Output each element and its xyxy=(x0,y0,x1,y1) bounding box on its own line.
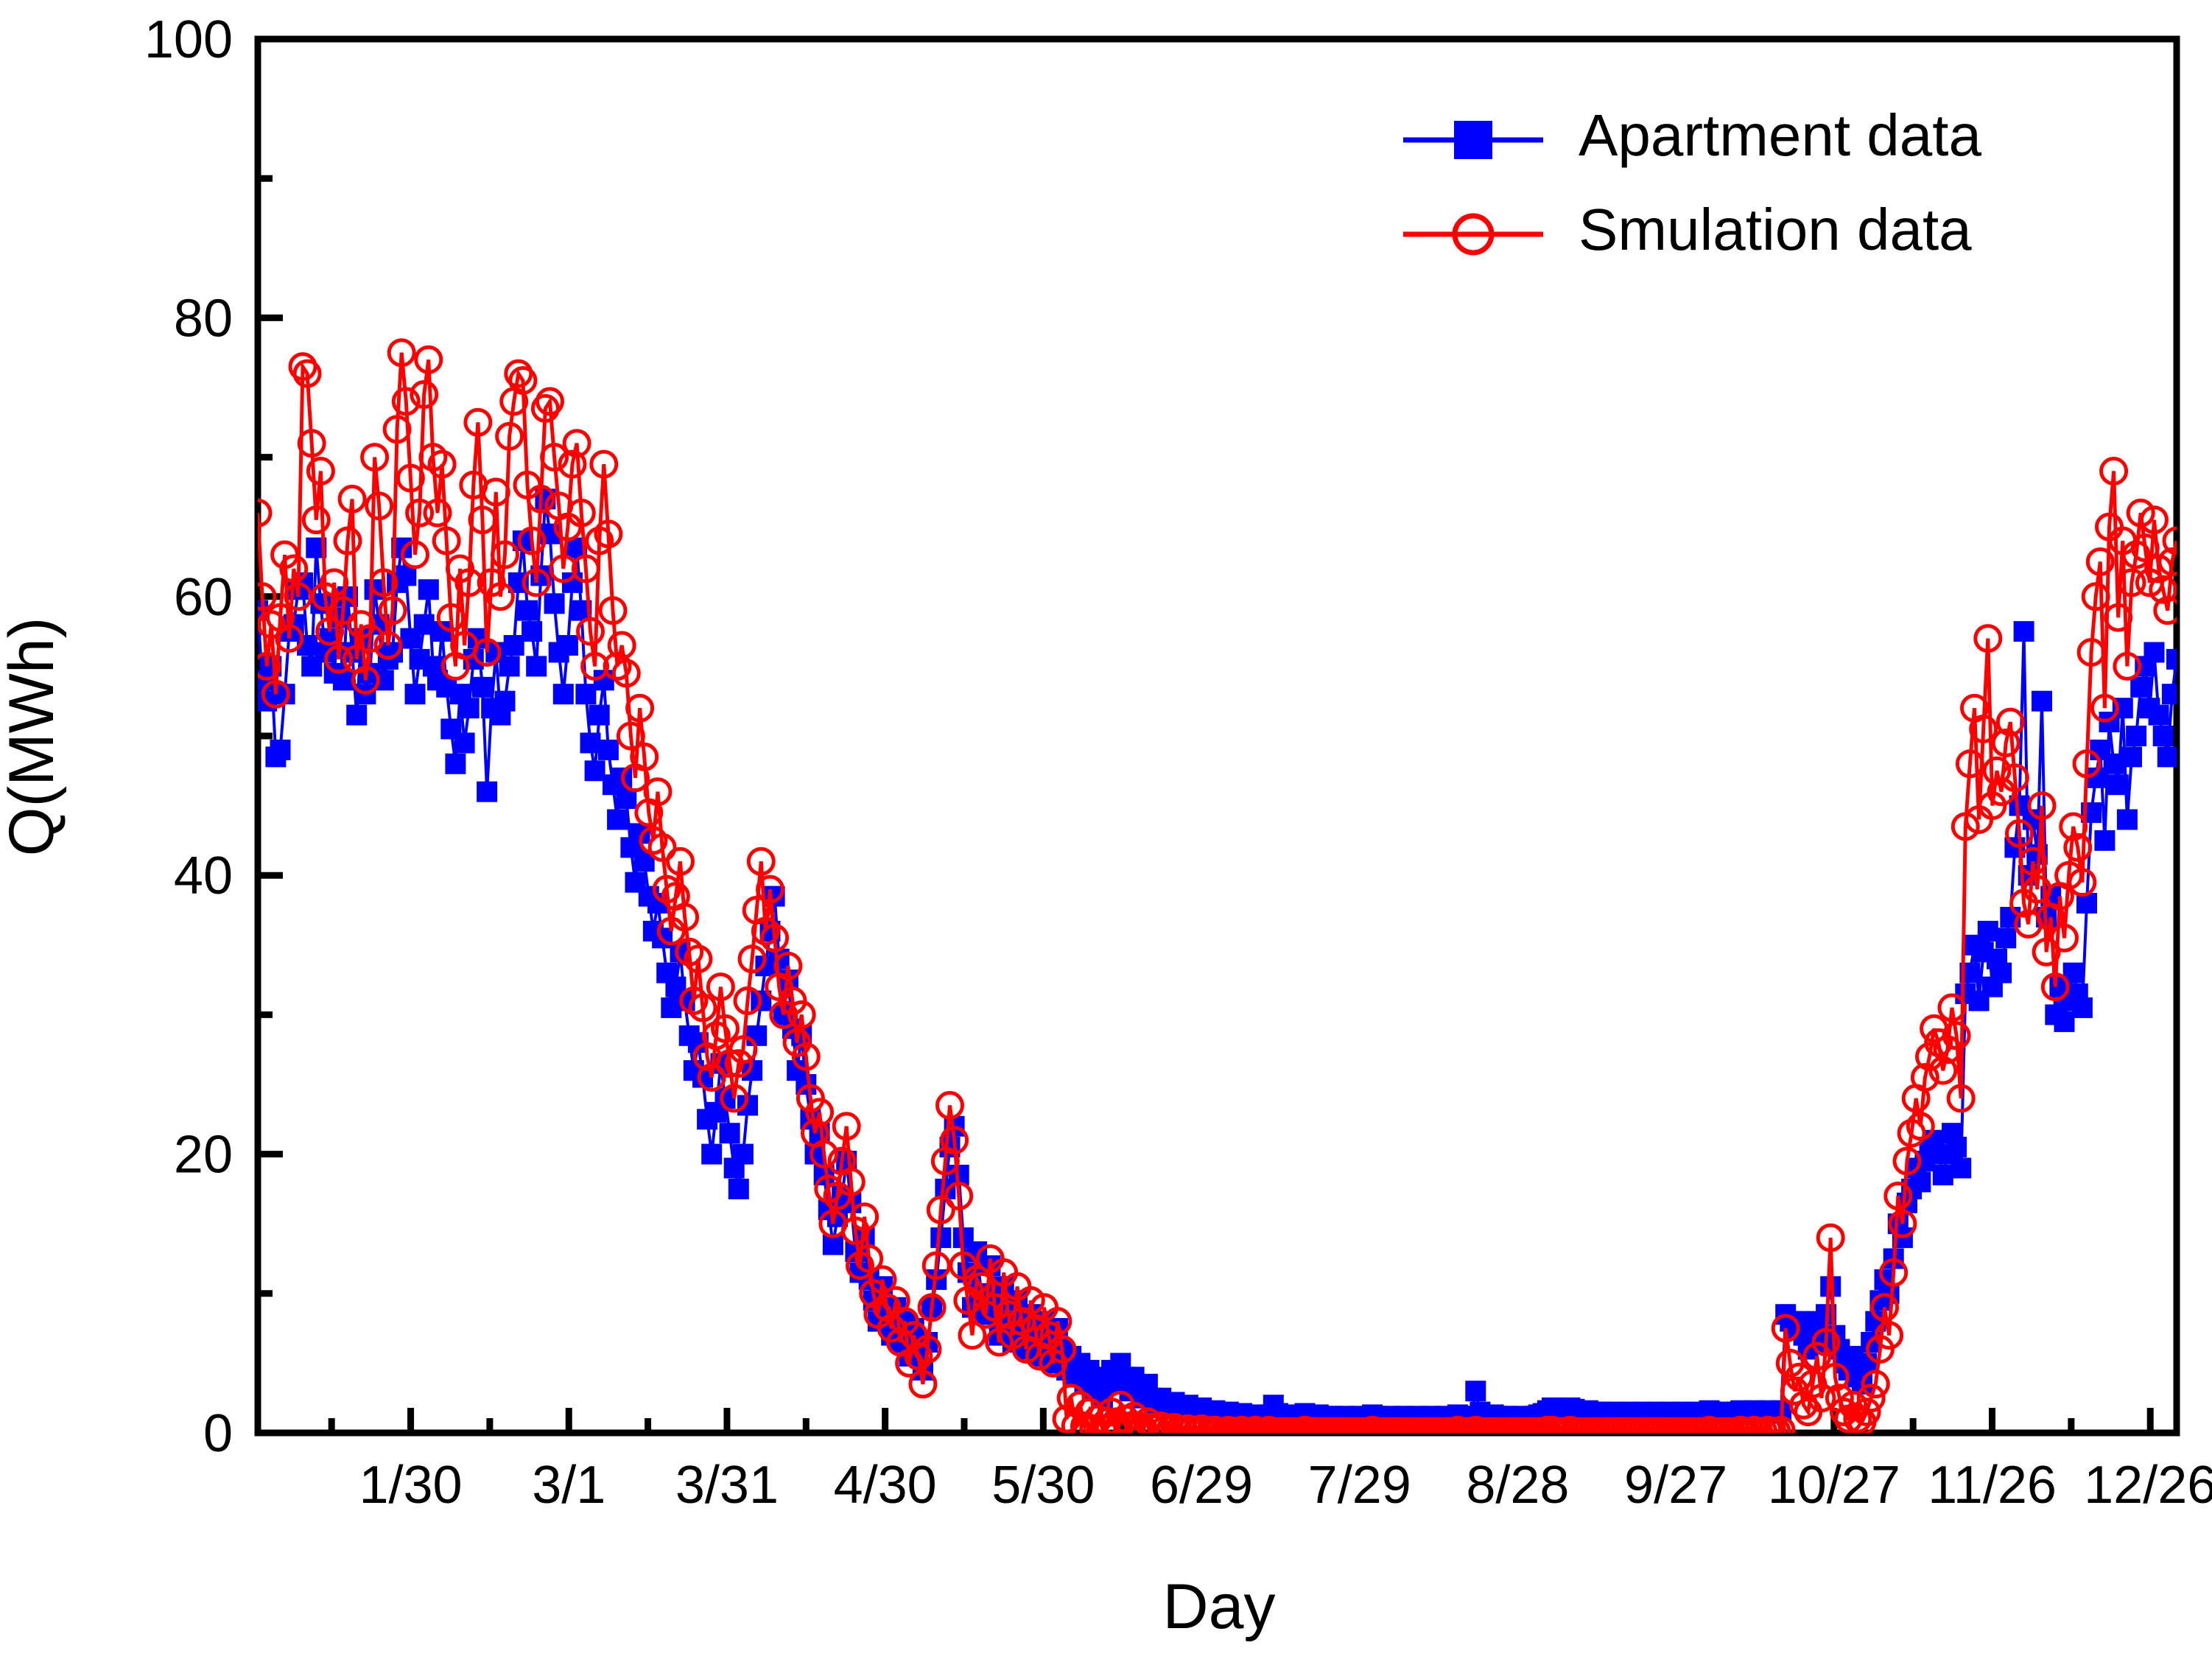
y-tick-label: 20 xyxy=(174,1126,233,1185)
x-tick-label: 4/30 xyxy=(834,1456,937,1515)
data-point-marker xyxy=(1910,1171,1931,1192)
data-point-marker xyxy=(2126,726,2146,746)
data-point-marker xyxy=(2014,621,2034,642)
data-point-marker xyxy=(580,733,601,754)
data-point-marker xyxy=(585,760,605,781)
data-point-marker xyxy=(607,810,628,830)
x-tick-label: 12/26 xyxy=(2084,1456,2212,1515)
y-tick-label: 100 xyxy=(144,10,233,69)
data-point-marker xyxy=(2117,810,2138,830)
data-point-marker xyxy=(414,614,435,635)
data-point-marker xyxy=(589,705,610,726)
y-axis-title: Q(MWh) xyxy=(0,617,67,857)
x-tick-label: 5/30 xyxy=(991,1456,1095,1515)
x-tick-label: 7/29 xyxy=(1308,1456,1411,1515)
data-point-marker xyxy=(2121,746,2142,767)
data-point-marker xyxy=(2094,830,2115,851)
x-tick-label: 11/26 xyxy=(1928,1456,2057,1515)
data-point-marker xyxy=(2054,1011,2075,1032)
data-point-marker xyxy=(1951,1158,1971,1179)
data-point-marker xyxy=(522,621,542,642)
x-tick-label: 6/29 xyxy=(1150,1456,1253,1515)
data-point-marker xyxy=(2072,997,2093,1018)
x-tick-label: 8/28 xyxy=(1466,1456,1569,1515)
data-point-marker xyxy=(495,691,516,712)
data-point-marker xyxy=(2153,726,2174,746)
data-point-marker xyxy=(2157,746,2178,767)
x-tick-label: 9/27 xyxy=(1624,1456,1727,1515)
data-point-marker xyxy=(526,656,547,676)
data-point-marker xyxy=(720,1123,740,1143)
data-point-marker xyxy=(2032,691,2052,712)
data-point-marker xyxy=(504,635,524,656)
legend-marker-square xyxy=(1454,121,1492,159)
y-tick-label: 0 xyxy=(203,1404,233,1463)
data-point-marker xyxy=(270,740,291,760)
data-point-marker xyxy=(2144,642,2165,663)
data-point-marker xyxy=(499,656,520,676)
data-point-marker xyxy=(701,1144,722,1165)
data-point-marker xyxy=(418,579,439,600)
data-point-marker xyxy=(405,684,426,704)
data-point-marker xyxy=(598,740,619,760)
data-point-marker xyxy=(1933,1165,1953,1185)
data-point-marker xyxy=(445,754,466,774)
legend-label: Smulation data xyxy=(1579,197,1972,262)
data-point-marker xyxy=(472,677,493,698)
data-point-marker xyxy=(477,782,497,802)
y-tick-label: 80 xyxy=(174,289,233,348)
x-tick-label: 10/27 xyxy=(1768,1456,1900,1515)
x-tick-label: 3/1 xyxy=(532,1456,605,1515)
data-point-marker xyxy=(2108,774,2129,795)
data-point-marker xyxy=(1995,928,2016,948)
data-point-marker xyxy=(553,684,574,704)
data-point-marker xyxy=(2130,677,2151,698)
data-point-marker xyxy=(454,733,475,754)
data-point-marker xyxy=(2149,705,2169,726)
x-tick-label: 3/31 xyxy=(675,1456,779,1515)
data-point-marker xyxy=(544,593,565,614)
chart-canvas: 020406080100 1/303/13/314/305/306/297/29… xyxy=(0,0,2212,1662)
data-point-marker xyxy=(346,705,367,726)
data-point-marker xyxy=(459,698,480,718)
x-tick-label: 1/30 xyxy=(359,1456,462,1515)
data-point-marker xyxy=(575,684,596,704)
chart-figure: 020406080100 1/303/13/314/305/306/297/29… xyxy=(0,0,2212,1662)
data-point-marker xyxy=(2104,754,2124,774)
data-point-marker xyxy=(558,635,578,656)
legend-label: Apartment data xyxy=(1579,102,1982,168)
data-point-marker xyxy=(517,600,538,621)
data-point-marker xyxy=(1978,921,1998,942)
y-tick-label: 40 xyxy=(174,846,233,905)
data-point-marker xyxy=(746,1025,767,1046)
x-axis-title: Day xyxy=(1163,1571,1276,1642)
data-point-marker xyxy=(1946,1137,1967,1157)
data-point-marker xyxy=(733,1144,754,1165)
data-point-marker xyxy=(1465,1381,1486,1401)
data-point-marker xyxy=(1991,963,2012,983)
y-tick-label: 60 xyxy=(174,568,233,627)
data-point-marker xyxy=(728,1179,749,1199)
